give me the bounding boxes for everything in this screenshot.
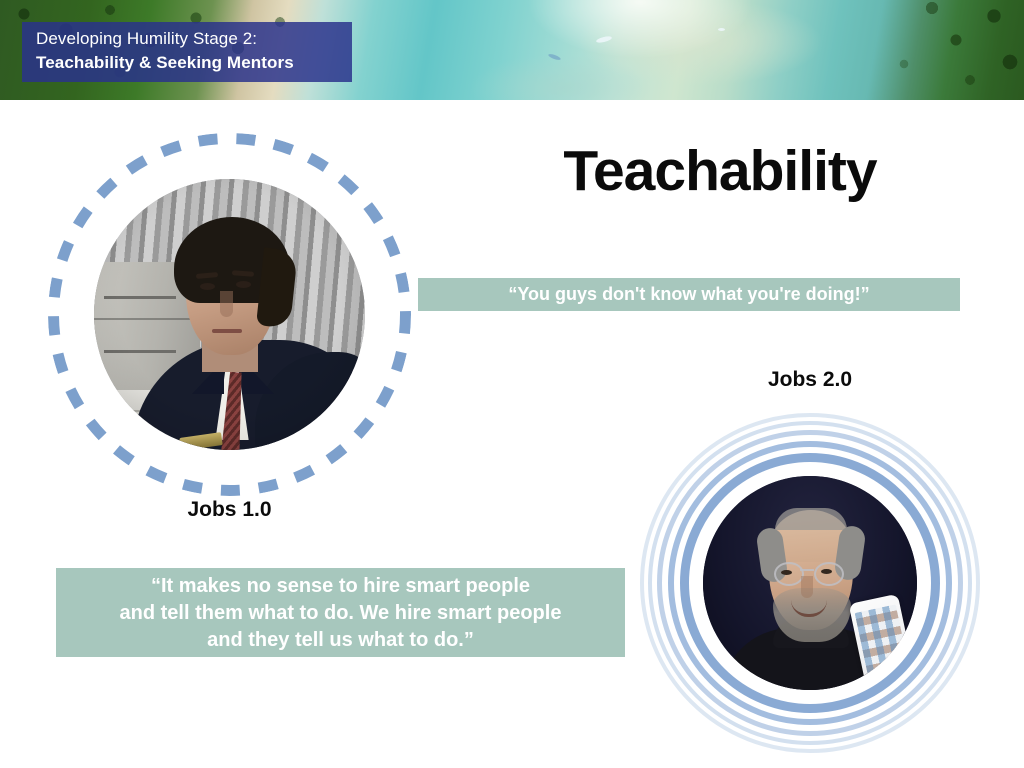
quote-banner-bottom: “It makes no sense to hire smart people … [56, 568, 625, 657]
header-title-line2: Teachability & Seeking Mentors [36, 53, 294, 73]
iphone-screen [855, 604, 909, 673]
quote-line-2: and tell them what to do. We hire smart … [56, 600, 625, 627]
glasses-bridge [800, 569, 814, 571]
hair-top [775, 508, 847, 530]
eye-left [781, 570, 792, 575]
quote-banner-top: “You guys don't know what you're doing!” [418, 278, 960, 311]
caption-jobs-2: Jobs 2.0 [640, 368, 980, 392]
photo-jobs-young [94, 179, 365, 450]
page-title: Teachability [440, 143, 1000, 200]
caption-jobs-1: Jobs 1.0 [48, 498, 411, 522]
glasses-lens-right [814, 562, 844, 586]
header-band: Developing Humility Stage 2: Teachabilit… [0, 0, 1024, 100]
figure-jobs-2 [640, 413, 980, 753]
boat-icon [718, 28, 725, 31]
palm-trees-right [844, 0, 1024, 100]
photo-jobs-older [703, 476, 917, 690]
header-title-line1: Developing Humility Stage 2: [36, 29, 257, 49]
eye-right [821, 569, 832, 574]
iphone-home-button [882, 667, 896, 681]
nose [801, 576, 813, 598]
quote-line-1: “It makes no sense to hire smart people [56, 573, 625, 600]
photo-vignette [94, 179, 365, 450]
figure-jobs-1 [48, 133, 411, 496]
quote-line-3: and they tell us what to do.” [56, 627, 625, 654]
header-title-box: Developing Humility Stage 2: Teachabilit… [22, 22, 352, 82]
